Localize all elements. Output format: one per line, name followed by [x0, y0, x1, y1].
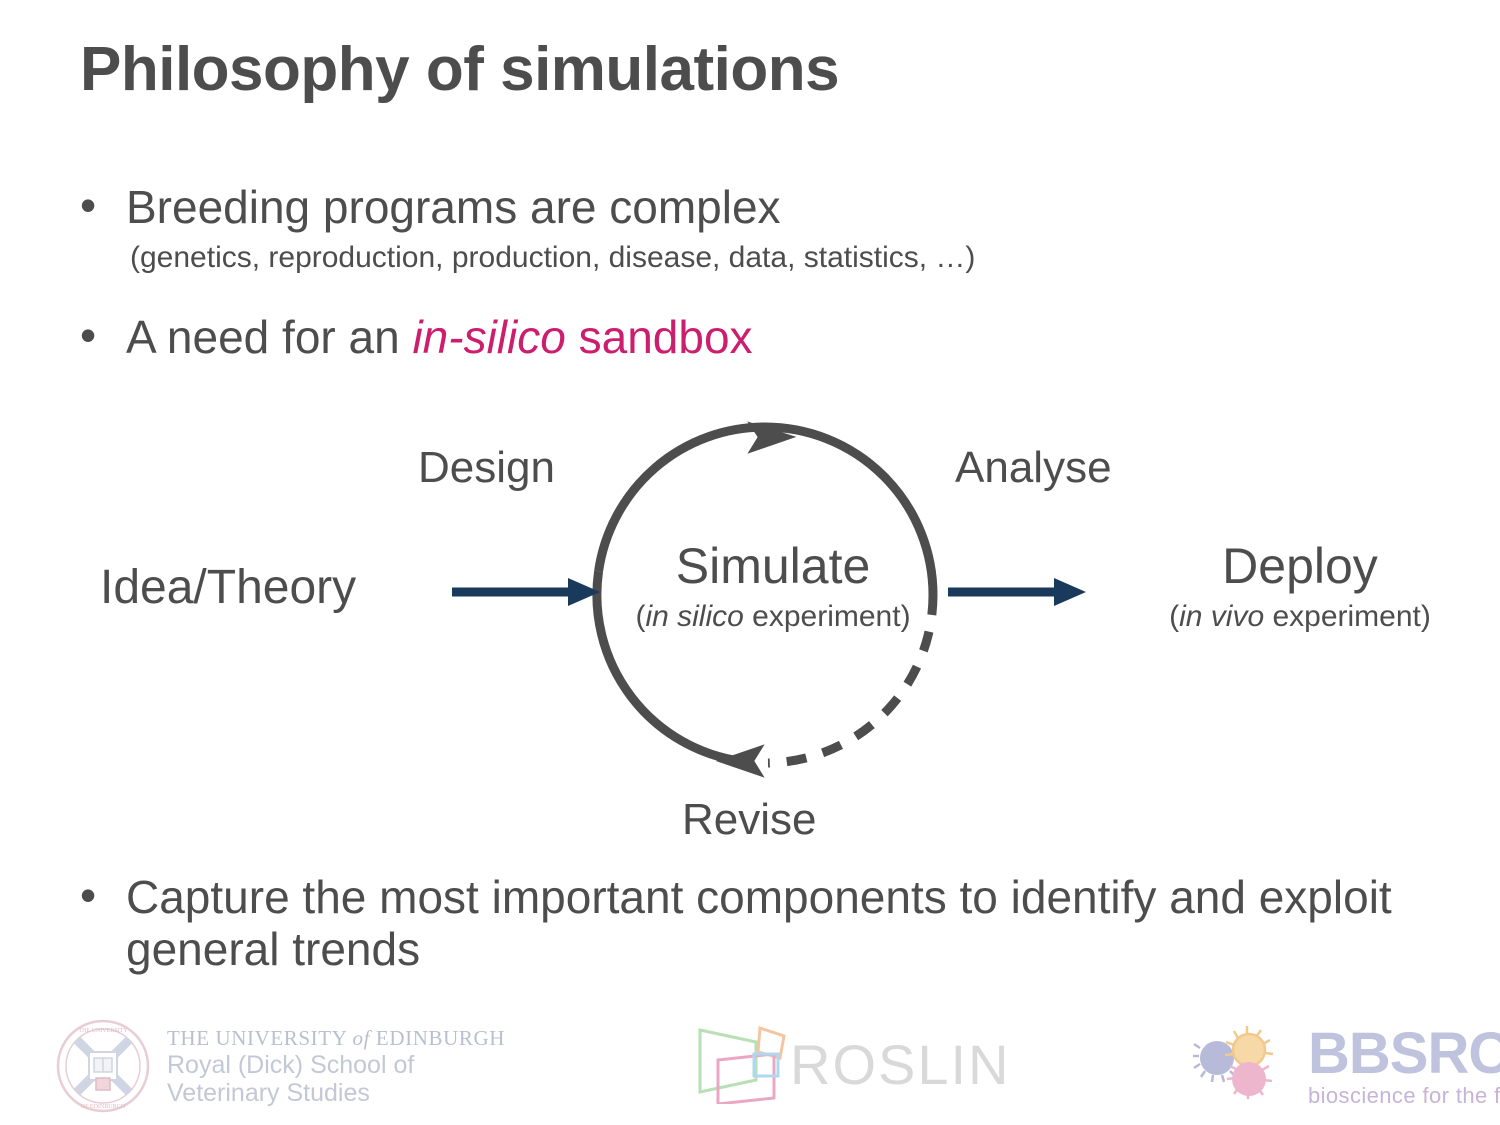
node-simulate-subtitle-italic: in silico [645, 600, 743, 633]
bbsrc-wordmark: BBSRC bioscience for the future [1308, 1026, 1500, 1109]
node-simulate-title: Simulate [613, 540, 933, 593]
edinburgh-crest-icon: THE UNIVERSITY OF EDINBURGH [55, 1018, 151, 1114]
edinburgh-line-3: Veterinary Studies [167, 1079, 505, 1107]
bullet-2-emphasis-sandbox: sandbox [566, 311, 753, 363]
node-deploy-subtitle-rest: experiment [1264, 600, 1421, 633]
logo-bbsrc: BBSRC bioscience for the future [1192, 1024, 1500, 1109]
node-deploy-title: Deploy [1120, 540, 1480, 593]
cycle-bottom-arrowhead [722, 748, 760, 774]
node-deploy-subtitle: (in vivo experiment) [1120, 599, 1480, 635]
bullet-item-3: • Capture the most important components … [72, 872, 1472, 975]
bullet-body-3: Capture the most important components to… [126, 872, 1472, 975]
bbsrc-wordmark-text: BBSRC [1308, 1026, 1500, 1081]
edinburgh-line-1-of: of [353, 1026, 371, 1050]
cycle-label-revise: Revise [682, 795, 817, 845]
diagram-input-label-idea-theory: Idea/Theory [100, 560, 356, 615]
bullet-body-2: A need for an in-silico sandbox [126, 312, 1432, 364]
diagram-node-simulate: Simulate (in silico experiment) [613, 540, 933, 635]
edinburgh-line-1b: EDINBURGH [370, 1026, 505, 1050]
edinburgh-wordmark: THE UNIVERSITY of EDINBURGH Royal (Dick)… [167, 1026, 505, 1107]
bullet-main-text-1: Breeding programs are complex [126, 182, 1432, 234]
bbsrc-tagline: bioscience for the future [1308, 1083, 1500, 1109]
logo-roslin: ROSLIN [688, 1024, 1011, 1104]
input-arrow [452, 578, 600, 606]
bullet-sub-text-1: (genetics, reproduction, production, dis… [126, 240, 1432, 276]
diagram-node-deploy: Deploy (in vivo experiment) [1120, 540, 1480, 635]
bullet-marker-icon: • [72, 182, 126, 228]
node-deploy-subtitle-italic: in vivo [1179, 600, 1264, 633]
bullet-marker-icon: • [72, 872, 126, 918]
bullet-2-prefix: A need for an [126, 311, 412, 363]
node-simulate-subtitle-rest: experiment [744, 600, 901, 633]
footer-logos: THE UNIVERSITY OF EDINBURGH THE UNIVERSI… [0, 1010, 1500, 1125]
edinburgh-line-1: THE UNIVERSITY of EDINBURGH [167, 1026, 505, 1051]
roslin-wordmark: ROSLIN [790, 1032, 1011, 1097]
page-title: Philosophy of simulations [80, 34, 839, 105]
cycle-label-design: Design [418, 443, 555, 493]
bullet-item-1: • Breeding programs are complex (genetic… [72, 182, 1432, 276]
bbsrc-mark-icon [1192, 1024, 1304, 1100]
edinburgh-line-1a: THE UNIVERSITY [167, 1026, 353, 1050]
bullet-main-text-3: Capture the most important components to… [126, 872, 1472, 975]
cycle-label-analyse: Analyse [955, 443, 1112, 493]
svg-text:OF EDINBURGH: OF EDINBURGH [81, 1104, 126, 1110]
output-arrow [948, 578, 1086, 606]
svg-text:THE UNIVERSITY: THE UNIVERSITY [78, 1028, 128, 1034]
node-simulate-subtitle: (in silico experiment) [613, 599, 933, 635]
bullet-item-2: • A need for an in-silico sandbox [72, 312, 1432, 364]
roslin-mark-icon [688, 1024, 796, 1104]
logo-university-of-edinburgh: THE UNIVERSITY OF EDINBURGH THE UNIVERSI… [55, 1018, 505, 1114]
bullet-main-text-2: A need for an in-silico sandbox [126, 312, 1432, 364]
bullet-2-emphasis-in-silico: in-silico [412, 311, 565, 363]
edinburgh-line-2: Royal (Dick) School of [167, 1051, 505, 1079]
bullet-body-1: Breeding programs are complex (genetics,… [126, 182, 1432, 276]
bullet-marker-icon: • [72, 312, 126, 358]
